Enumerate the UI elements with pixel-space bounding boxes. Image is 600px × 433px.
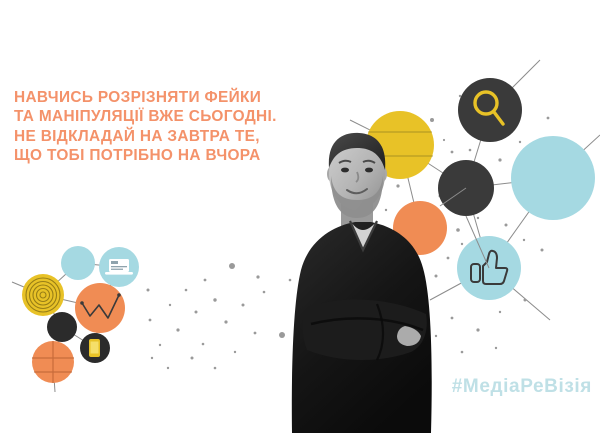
headline-block: НАВЧИСЬ РОЗРІЗНЯТИ ФЕЙКИ ТА МАНІПУЛЯЦІЇ …	[14, 88, 344, 166]
headline-line-3: НЕ ВІДКЛАДАЙ НА ЗАВТРА ТЕ,	[14, 127, 344, 146]
headline-line-4: ЩО ТОБІ ПОТРІБНО НА ВЧОРА	[14, 146, 344, 165]
connector-lines-foreground	[440, 188, 489, 268]
headline-line-1: НАВЧИСЬ РОЗРІЗНЯТИ ФЕЙКИ	[14, 88, 344, 107]
network-graphic-foreground	[0, 0, 600, 433]
headline-line-2: ТА МАНІПУЛЯЦІЇ ВЖЕ СЬОГОДНІ.	[14, 107, 344, 126]
poster-canvas: НАВЧИСЬ РОЗРІЗНЯТИ ФЕЙКИ ТА МАНІПУЛЯЦІЇ …	[0, 0, 600, 433]
scatter-dots-foreground	[435, 243, 464, 278]
campaign-hashtag: #МедіаРеВізія	[452, 376, 592, 398]
